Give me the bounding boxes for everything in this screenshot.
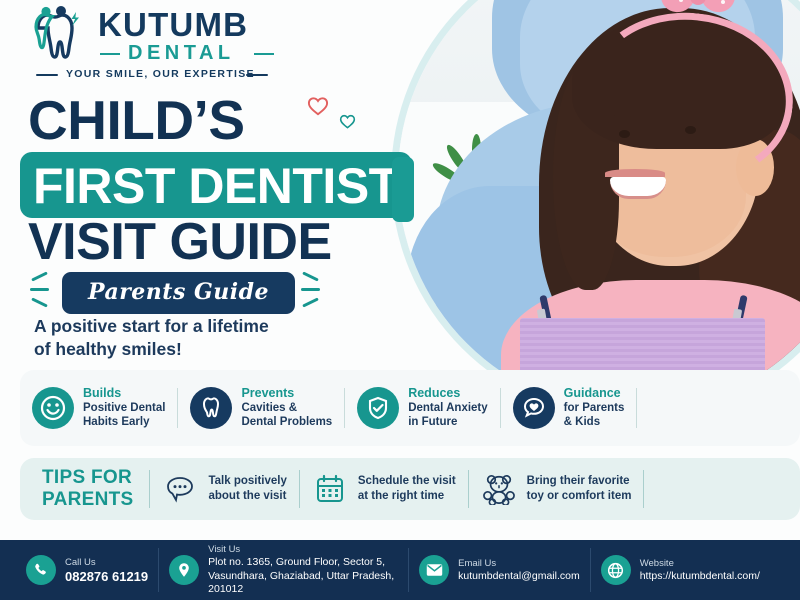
contact-footer: Call Us 082876 61219 Visit Us Plot no. 1… [0,540,800,600]
benefit-line-2: & Kids [564,415,625,430]
benefit-item[interactable]: Prevents Cavities & Dental Problems [178,382,344,434]
tip-line-1: Talk positively [208,474,286,489]
logo-name: KUTUMB [98,8,248,42]
contact-phone[interactable]: Call Us 082876 61219 [0,555,158,585]
tagline-rule-left [36,74,58,76]
tip-item[interactable]: Schedule the visit at the right time [300,473,468,505]
brand-logo[interactable]: KUTUMB DENTAL YOUR SMILE, OUR EXPERTISE [28,4,278,84]
tip-text: Bring their favorite toy or comfort item [527,474,632,504]
benefit-highlight: Guidance [564,386,625,401]
headline-line-1: CHILD’S [28,92,245,148]
logo-subname: DENTAL [98,42,248,64]
tip-line-1: Schedule the visit [358,474,456,489]
tip-line-2: toy or comfort item [527,489,632,504]
contact-label: Call Us [65,556,148,569]
contact-address[interactable]: Visit Us Plot no. 1365, Ground Floor, Se… [159,543,408,597]
contact-label: Visit Us [208,543,398,556]
benefit-highlight: Builds [83,386,165,401]
tips-title-line-1: TIPS FOR [42,467,133,489]
benefit-highlight: Prevents [241,386,332,401]
calendar-icon [312,473,348,505]
subtitle: A positive start for a lifetime of healt… [34,315,269,361]
subtitle-line-1: A positive start for a lifetime [34,315,269,338]
heart-decorations [305,92,385,147]
contact-value: Plot no. 1365, Ground Floor, Sector 5, V… [208,556,398,597]
sparkle-right [292,270,322,310]
tip-line-2: at the right time [358,489,456,504]
benefit-line-1: Dental Anxiety [408,401,487,416]
heart-outline-red-icon [307,96,329,116]
benefit-text: Prevents Cavities & Dental Problems [241,386,332,430]
benefits-strip: Builds Positive Dental Habits Early Prev… [20,370,800,446]
globe-icon [601,555,631,585]
benefit-text: Builds Positive Dental Habits Early [83,386,165,430]
speech-bubble-dots-icon [162,473,198,505]
benefit-line-1: for Parents [564,401,625,416]
tips-strip: TIPS FOR PARENTS Talk positively about t… [20,458,800,520]
envelope-icon [419,555,449,585]
tagline-rule-right [246,74,268,76]
benefit-line-2: Habits Early [83,415,165,430]
teddy-bear-icon [481,473,517,505]
benefit-divider [636,388,637,428]
shield-check-icon [357,387,399,429]
tip-item[interactable]: Talk positively about the visit [150,473,298,505]
chat-heart-icon [513,387,555,429]
tips-title: TIPS FOR PARENTS [20,467,149,511]
parents-guide-badge[interactable]: Parents Guide [62,272,295,314]
benefit-line-1: Positive Dental [83,401,165,416]
teal-accent-tab [392,157,414,222]
tip-text: Talk positively about the visit [208,474,286,504]
tips-divider [643,470,644,508]
benefit-line-1: Cavities & [241,401,332,416]
contact-value: https://kutumbdental.com/ [640,570,760,584]
tip-item[interactable]: Bring their favorite toy or comfort item [469,473,644,505]
contact-email[interactable]: Email Us kutumbdental@gmail.com [409,555,590,585]
tooth-people-logo-icon [28,6,90,66]
contact-label: Website [640,557,760,570]
hero-photo [398,0,800,412]
tips-title-line-2: PARENTS [42,489,133,511]
headline-line-2: FIRST DENTIST [33,160,399,212]
subtitle-line-2: of healthy smiles! [34,338,269,361]
location-pin-icon [169,555,199,585]
benefit-highlight: Reduces [408,386,487,401]
parents-guide-label: Parents Guide [88,279,269,305]
phone-icon [26,555,56,585]
benefit-item[interactable]: Reduces Dental Anxiety in Future [345,382,499,434]
benefit-text: Guidance for Parents & Kids [564,386,625,430]
contact-website[interactable]: Website https://kutumbdental.com/ [591,555,770,585]
benefit-text: Reduces Dental Anxiety in Future [408,386,487,430]
tooth-icon [190,387,232,429]
contact-label: Email Us [458,557,580,570]
tip-text: Schedule the visit at the right time [358,474,456,504]
contact-value: 082876 61219 [65,569,148,585]
brand-tagline: YOUR SMILE, OUR EXPERTISE [66,68,255,80]
poster-canvas: KUTUMB DENTAL YOUR SMILE, OUR EXPERTISE … [0,0,800,600]
smiley-face-icon [32,387,74,429]
contact-value: kutumbdental@gmail.com [458,570,580,584]
headline-line-3: VISIT GUIDE [28,215,332,269]
benefit-item[interactable]: Guidance for Parents & Kids [501,382,637,434]
benefit-line-2: Dental Problems [241,415,332,430]
tip-line-1: Bring their favorite [527,474,632,489]
tip-line-2: about the visit [208,489,286,504]
benefit-item[interactable]: Builds Positive Dental Habits Early [20,382,177,434]
benefit-line-2: in Future [408,415,487,430]
heart-outline-teal-icon [339,114,356,129]
sparkle-left [30,270,60,310]
